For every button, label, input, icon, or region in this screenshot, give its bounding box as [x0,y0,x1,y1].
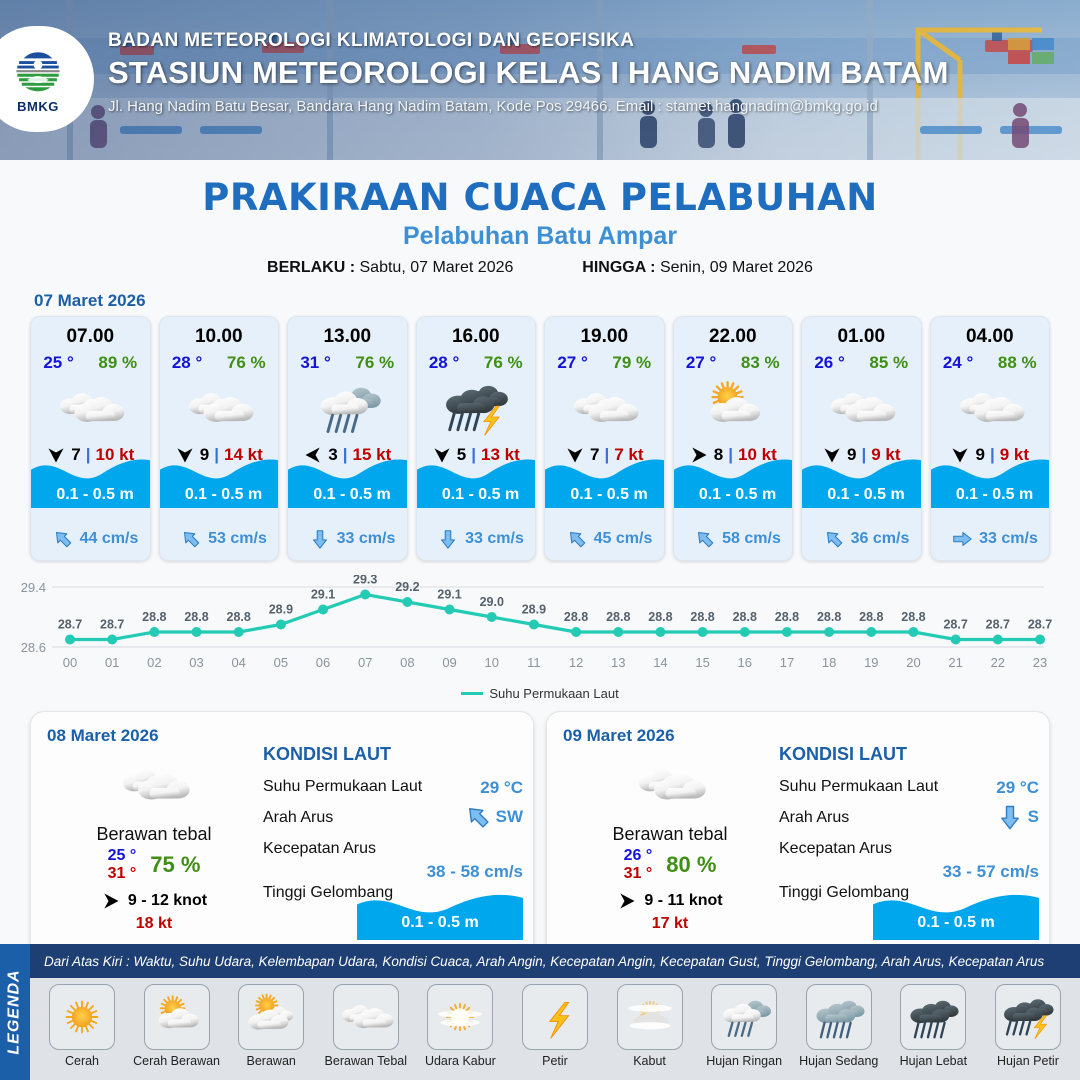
sst-point [445,605,455,615]
legend-icon-box [144,984,210,1050]
sst-value-label: 28.8 [901,610,925,624]
legend-note: Dari Atas Kiri : Waktu, Suhu Udara, Kele… [30,954,1044,969]
card-humidity: 89 % [98,353,137,373]
x-tick-label: 23 [1033,655,1047,670]
hingga-label: HINGGA : [582,259,655,276]
sst-value-label: 28.7 [1028,618,1052,632]
panel-wind-range: 9 - 12 knot [128,892,207,910]
sea-row-current-speed: Kecepatan Arus 33 - 57 cm/s [779,840,1039,858]
panel-wind: 9 - 11 knot [575,891,765,911]
card-time: 22.00 [709,326,757,348]
card-humidity: 79 % [612,353,651,373]
card-current-speed: 58 cm/s [722,530,781,548]
card-weather-icon [51,379,129,437]
panel-condition: Berawan tebal [575,824,765,845]
legend-icon-box [238,984,304,1050]
x-tick-label: 15 [695,655,709,670]
forecast-card[interactable]: 01.00 26 ° 85 % 9 | [801,316,922,561]
legend-item-label: Cerah Berawan [133,1054,221,1068]
sst-value-label: 29.3 [353,575,377,587]
sst-point [276,620,286,630]
sea-value-current-speed: 38 - 58 cm/s [427,862,523,882]
panel-left-col: Berawan tebal 25 ° 31 ° 75 % 9 - 12 knot… [59,754,249,933]
panel-sea-col: KONDISI LAUT Suhu Permukaan Laut 29 °C A… [263,744,523,902]
card-wave-height: 0.1 - 0.5 m [417,486,537,504]
legend-item-label: Cerah [38,1054,126,1068]
weather-icon-berawan-tebal [632,755,708,815]
card-current: 45 cm/s [545,528,665,550]
current-direction-arrow-SW [464,803,492,831]
sst-value-label: 28.8 [775,610,799,624]
wind-direction-arrow-E [101,891,121,911]
sea-value-current-dir: SW [464,803,523,831]
legend-line-icon [461,692,483,695]
forecast-card[interactable]: 10.00 28 ° 76 % 9 | [159,316,280,561]
sea-label-current-speed: Kecepatan Arus [779,840,892,857]
wind-direction-arrow-E [617,891,637,911]
card-humidity: 88 % [998,353,1037,373]
sst-value-label: 28.9 [269,603,293,617]
sst-value-label: 29.1 [311,588,335,602]
panel-sea-title: KONDISI LAUT [263,744,523,765]
title-block: PRAKIRAAN CUACA PELABUHAN Pelabuhan Batu… [0,160,1080,277]
weather-icon-berawan-tebal [180,379,258,437]
x-tick-label: 00 [63,655,77,670]
card-current-speed: 53 cm/s [208,530,267,548]
legend-icon-box [711,984,777,1050]
current-direction-arrow-SW [823,528,845,550]
card-weather-icon [180,379,258,437]
legend-item-label: Petir [511,1054,599,1068]
sst-value-label: 28.7 [943,618,967,632]
x-tick-label: 22 [991,655,1005,670]
berlaku-label: BERLAKU : [267,259,355,276]
sst-point [1035,635,1045,645]
current-direction-arrow-SW [694,528,716,550]
sst-point [866,627,876,637]
panel-temp-min: 25 ° [108,847,137,865]
legend-item[interactable]: Cerah Berawan [133,984,221,1068]
forecast-card[interactable]: 13.00 31 ° 76 % 3 | [287,316,408,561]
sst-chart-svg: 29.428.628.70028.70128.80228.80328.80428… [0,575,1080,690]
legend-item-label: Hujan Petir [984,1054,1072,1068]
current-direction-arrow-S [996,803,1024,831]
legend-item-label: Kabut [606,1054,694,1068]
weather-icon-berawan-tebal [337,992,395,1042]
panel-gust: 17 kt [575,915,765,933]
card-time: 01.00 [837,326,885,348]
validity-range: BERLAKU : Sabtu, 07 Maret 2026 HINGGA : … [0,259,1080,277]
weather-icon-udara-kabur [431,992,489,1042]
sea-label-current-dir: Arah Arus [263,809,333,826]
legend-icon-box [617,984,683,1050]
legend-item[interactable]: Kabut [606,984,694,1068]
card-humidity: 85 % [869,353,908,373]
weather-icon-berawan-tebal [822,379,900,437]
card-current: 44 cm/s [31,528,151,550]
forecast-card[interactable]: 07.00 25 ° 89 % 7 | [30,316,151,561]
x-tick-label: 19 [864,655,878,670]
legend-item[interactable]: Hujan Petir [984,984,1072,1068]
x-tick-label: 09 [442,655,456,670]
sst-value-label: 29.1 [437,588,461,602]
legend-icon-box [427,984,493,1050]
legend-icon-row: Cerah Cerah Berawan [30,984,1080,1068]
card-wave-height: 0.1 - 0.5 m [288,486,408,504]
weather-icon-petir [526,992,584,1042]
card-current: 36 cm/s [802,528,922,550]
sst-point [487,612,497,622]
legend-item[interactable]: Hujan Lebat [889,984,977,1068]
berlaku-value: Sabtu, 07 Maret 2026 [360,259,514,276]
card-time: 13.00 [323,326,371,348]
panel-wave-height: 0.1 - 0.5 m [357,914,523,932]
page-subtitle: Pelabuhan Batu Ampar [0,222,1080,251]
bmkg-emblem-icon [11,44,65,98]
sst-value-label: 28.8 [859,610,883,624]
sst-value-label: 28.8 [817,610,841,624]
x-tick-label: 18 [822,655,836,670]
station-address: Jl. Hang Nadim Batu Besar, Bandara Hang … [108,98,949,115]
legend-item[interactable]: Petir [511,984,599,1068]
card-temperature: 24 ° [943,353,973,373]
sst-value-label: 28.8 [606,610,630,624]
sst-value-label: 28.8 [184,610,208,624]
card-temperature: 27 ° [557,353,587,373]
card-temperature: 28 ° [172,353,202,373]
sst-point [402,597,412,607]
sst-point [613,627,623,637]
card-current-speed: 33 cm/s [465,530,524,548]
card-time: 16.00 [452,326,500,348]
panel-date: 08 Maret 2026 [47,726,517,746]
panel-temp-min: 26 ° [624,847,653,865]
bmkg-logo-text: BMKG [17,99,59,114]
legend-item-label: Berawan [227,1054,315,1068]
legend-icon-box [806,984,872,1050]
card-humidity: 83 % [741,353,780,373]
sst-value-label: 28.7 [986,618,1010,632]
x-tick-label: 12 [569,655,583,670]
weather-icon-hujan-sedang [810,992,868,1042]
legend-side-tab: LEGENDA [0,944,30,1080]
sea-label-sst: Suhu Permukaan Laut [263,778,422,795]
sea-row-current-speed: Kecepatan Arus 38 - 58 cm/s [263,840,523,858]
x-tick-label: 01 [105,655,119,670]
weather-icon-berawan [242,992,300,1042]
card-wave-height: 0.1 - 0.5 m [545,486,665,504]
legend-item[interactable]: Berawan [227,984,315,1068]
card-humidity: 76 % [484,353,523,373]
current-dir-text: SW [496,807,523,827]
panel-temp-hum: 26 ° 31 ° 80 % [575,847,765,883]
card-wave-height: 0.1 - 0.5 m [160,486,280,504]
card-temperature: 26 ° [814,353,844,373]
header-text-block: BADAN METEOROLOGI KLIMATOLOGI DAN GEOFIS… [108,30,949,115]
current-direction-arrow-SW [180,528,202,550]
card-time: 07.00 [66,326,114,348]
weather-icon-kabut [621,992,679,1042]
card-humidity: 76 % [355,353,394,373]
page-title: PRAKIRAAN CUACA PELABUHAN [0,176,1080,219]
forecast-card[interactable]: 19.00 27 ° 79 % 7 | [544,316,665,561]
card-wave-height: 0.1 - 0.5 m [31,486,151,504]
card-current-speed: 33 cm/s [979,530,1038,548]
sst-point [192,627,202,637]
panel-condition: Berawan tebal [59,824,249,845]
panel-humidity: 75 % [150,852,200,878]
sst-chart: 29.428.628.70028.70128.80228.80328.80428… [0,575,1080,690]
card-temperature: 25 ° [43,353,73,373]
legend-icon-box [49,984,115,1050]
legend-note-bar: Dari Atas Kiri : Waktu, Suhu Udara, Kele… [30,944,1080,978]
card-current: 33 cm/s [288,528,408,550]
legend-item[interactable]: Cerah [38,984,126,1068]
x-tick-label: 13 [611,655,625,670]
panel-temp-max: 31 ° [624,865,653,883]
sst-point [993,635,1003,645]
sst-point [360,590,370,600]
weather-icon-hujan-ringan [715,992,773,1042]
sst-value-label: 29.0 [480,595,504,609]
weather-icon-berawan-tebal [951,379,1029,437]
panel-sea-col: KONDISI LAUT Suhu Permukaan Laut 29 °C A… [779,744,1039,902]
card-temperature: 28 ° [429,353,459,373]
legend-item[interactable]: Udara Kabur [416,984,504,1068]
sst-point [951,635,961,645]
sea-row-sst: Suhu Permukaan Laut 29 °C [779,778,1039,796]
hourly-forecast-row: 07.00 25 ° 89 % 7 | [0,316,1080,561]
card-weather-icon [694,379,772,437]
legend-item-label: Udara Kabur [416,1054,504,1068]
x-tick-label: 10 [485,655,499,670]
sea-row-current-dir: Arah Arus S [779,809,1039,827]
x-tick-label: 16 [738,655,752,670]
card-time: 19.00 [580,326,628,348]
page-header: BMKG BADAN METEOROLOGI KLIMATOLOGI DAN G… [0,0,1080,160]
weather-icon-cerah-berawan [694,379,772,437]
weather-icon-hujan-lebat [904,992,962,1042]
panel-wind: 9 - 12 knot [59,891,249,911]
weather-icon-cerah [53,992,111,1042]
sst-point [65,635,75,645]
sst-value-label: 28.9 [522,603,546,617]
weather-icon-berawan-tebal [116,755,192,815]
x-tick-label: 20 [906,655,920,670]
sea-row-sst: Suhu Permukaan Laut 29 °C [263,778,523,796]
legend-section: LEGENDA Dari Atas Kiri : Waktu, Suhu Uda… [0,944,1080,1080]
panel-sea-title: KONDISI LAUT [779,744,1039,765]
panel-temp-hum: 25 ° 31 ° 75 % [59,847,249,883]
panel-left-col: Berawan tebal 26 ° 31 ° 80 % 9 - 11 knot… [575,754,765,933]
sst-point [149,627,159,637]
legend-item[interactable]: Hujan Ringan [700,984,788,1068]
card-temperature: 27 ° [686,353,716,373]
sst-point [740,627,750,637]
sea-value-sst: 29 °C [996,778,1039,798]
daily-summary-panel[interactable]: 09 Maret 2026 Berawan tebal 26 ° 31 [546,711,1050,959]
daily-summary-panels: 08 Maret 2026 Berawan tebal 25 ° 31 [0,701,1080,959]
current-direction-arrow-S [437,528,459,550]
card-current: 33 cm/s [931,528,1051,550]
x-tick-label: 05 [274,655,288,670]
sst-point [107,635,117,645]
card-current-speed: 45 cm/s [594,530,653,548]
day1-date: 07 Maret 2026 [34,291,1080,311]
card-current: 53 cm/s [160,528,280,550]
station-name: STASIUN METEOROLOGI KELAS I HANG NADIM B… [108,55,949,91]
x-tick-label: 17 [780,655,794,670]
card-wave-height: 0.1 - 0.5 m [931,486,1051,504]
card-weather-icon [308,379,386,437]
card-current-speed: 36 cm/s [851,530,910,548]
x-tick-label: 03 [189,655,203,670]
hingga-value: Senin, 09 Maret 2026 [660,259,813,276]
weather-icon-berawan-tebal [565,379,643,437]
sea-row-current-dir: Arah Arus SW [263,809,523,827]
forecast-card[interactable]: 22.00 27 ° 83 % 8 | 10 kt [673,316,794,561]
x-tick-label: 02 [147,655,161,670]
sst-value-label: 28.8 [227,610,251,624]
sst-point [529,620,539,630]
card-temperature: 31 ° [300,353,330,373]
x-tick-label: 21 [948,655,962,670]
legend-item-label: Hujan Lebat [889,1054,977,1068]
current-direction-arrow-SW [52,528,74,550]
weather-icon-berawan-tebal [51,379,129,437]
legend-icon-box [522,984,588,1050]
card-current-speed: 44 cm/s [80,530,139,548]
weather-icon-cerah-berawan [148,992,206,1042]
current-direction-arrow-S [309,528,331,550]
y-tick-min: 28.6 [21,640,46,655]
legend-item[interactable]: Berawan Tebal [322,984,410,1068]
card-current: 58 cm/s [674,528,794,550]
sst-line [70,595,1040,640]
sst-value-label: 28.8 [690,610,714,624]
card-weather-icon [951,379,1029,437]
legend-icon-box [333,984,399,1050]
card-wave-height: 0.1 - 0.5 m [674,486,794,504]
card-weather-icon [565,379,643,437]
sst-point [908,627,918,637]
sst-value-label: 29.2 [395,580,419,594]
weather-icon-hujan-petir [999,992,1057,1042]
sea-label-current-speed: Kecepatan Arus [263,840,376,857]
current-direction-arrow-SW [566,528,588,550]
sea-value-current-dir: S [996,803,1039,831]
sst-value-label: 28.8 [564,610,588,624]
panel-wind-range: 9 - 11 knot [644,892,722,910]
sea-label-current-dir: Arah Arus [779,809,849,826]
panel-temp-max: 31 ° [108,865,137,883]
panel-weather-icon [575,754,765,816]
sst-point [571,627,581,637]
card-time: 04.00 [966,326,1014,348]
sst-point [234,627,244,637]
sst-point [824,627,834,637]
sst-value-label: 28.8 [142,610,166,624]
legend-item-label: Hujan Sedang [795,1054,883,1068]
agency-name: BADAN METEOROLOGI KLIMATOLOGI DAN GEOFIS… [108,30,949,52]
sst-value-label: 28.8 [648,610,672,624]
legend-icon-box [995,984,1061,1050]
x-tick-label: 07 [358,655,372,670]
x-tick-label: 11 [527,655,541,670]
card-weather-icon [437,379,515,437]
sea-label-sst: Suhu Permukaan Laut [779,778,938,795]
y-tick-max: 29.4 [21,580,46,595]
sst-value-label: 28.8 [733,610,757,624]
card-wave-height: 0.1 - 0.5 m [802,486,922,504]
sea-value-current-speed: 33 - 57 cm/s [943,862,1039,882]
card-humidity: 76 % [227,353,266,373]
panel-wave-height: 0.1 - 0.5 m [873,914,1039,932]
panel-date: 09 Maret 2026 [563,726,1033,746]
sst-value-label: 28.7 [58,618,82,632]
x-tick-label: 06 [316,655,330,670]
x-tick-label: 04 [231,655,245,670]
card-time: 10.00 [195,326,243,348]
sst-point [318,605,328,615]
x-tick-label: 14 [653,655,667,670]
legend-item-label: Hujan Ringan [700,1054,788,1068]
sst-point [698,627,708,637]
panel-gust: 18 kt [59,915,249,933]
card-weather-icon [822,379,900,437]
weather-icon-hujan-ringan [308,379,386,437]
weather-icon-hujan-petir [437,379,515,437]
sst-point [655,627,665,637]
legend-side-label: LEGENDA [6,969,24,1054]
panel-humidity: 80 % [666,852,716,878]
card-current-speed: 33 cm/s [337,530,396,548]
card-current: 33 cm/s [417,528,537,550]
sst-point [782,627,792,637]
forecast-card[interactable]: 16.00 28 ° 76 % 5 | [416,316,537,561]
sea-value-sst: 29 °C [480,778,523,798]
legend-item[interactable]: Hujan Sedang [795,984,883,1068]
legend-item-label: Berawan Tebal [322,1054,410,1068]
legend-icon-box [900,984,966,1050]
panel-weather-icon [59,754,249,816]
forecast-card[interactable]: 04.00 24 ° 88 % 9 | [930,316,1051,561]
current-direction-arrow-E [951,528,973,550]
sst-value-label: 28.7 [100,618,124,632]
current-dir-text: S [1028,807,1039,827]
x-tick-label: 08 [400,655,414,670]
daily-summary-panel[interactable]: 08 Maret 2026 Berawan tebal 25 ° 31 [30,711,534,959]
